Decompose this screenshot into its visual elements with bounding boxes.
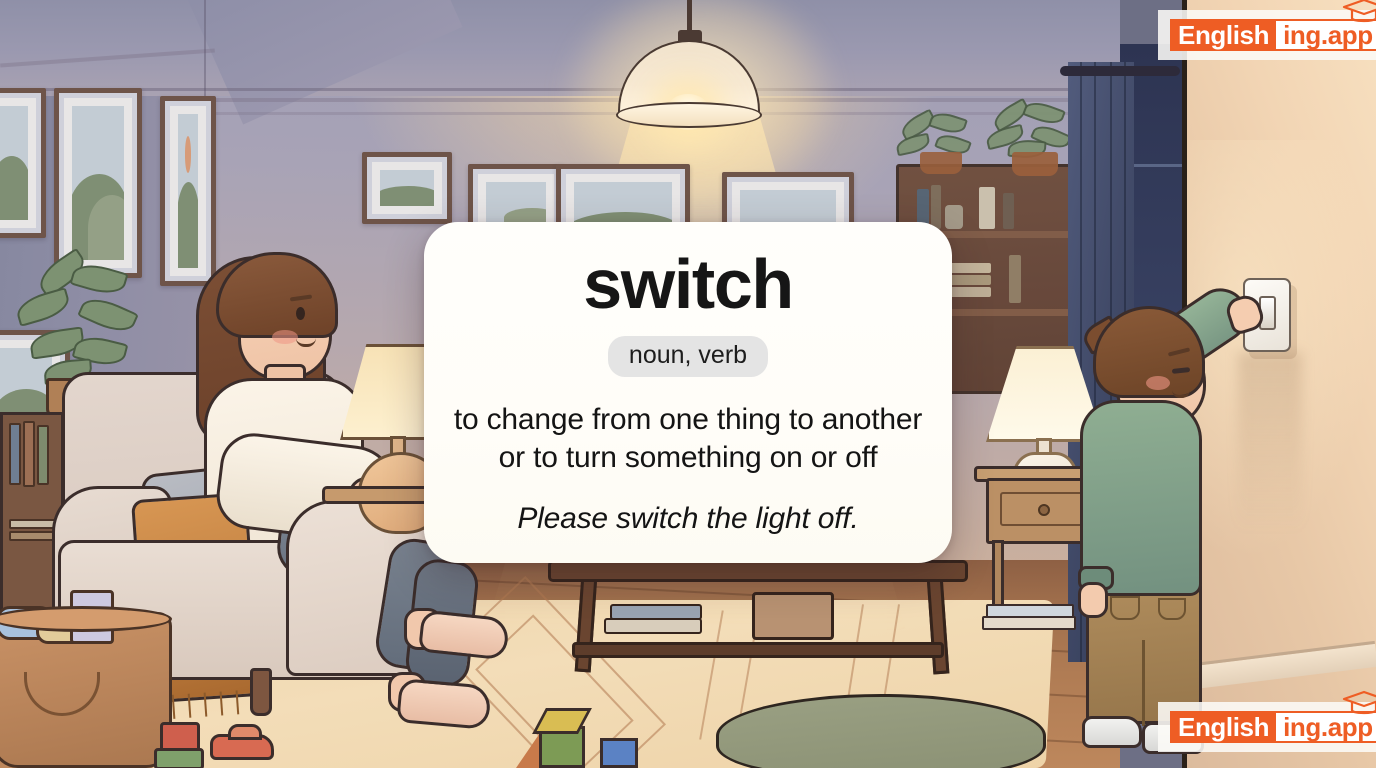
basket-rim (0, 606, 172, 632)
vocabulary-card: switch noun, verb to change from one thi… (424, 222, 952, 563)
logo-text-english: English (1170, 19, 1276, 51)
coffee-table-top (548, 560, 968, 582)
curtain-rod (1060, 66, 1180, 76)
coffee-table-book-second (604, 618, 702, 634)
toy-green-block (154, 748, 204, 768)
floor-cushion (716, 694, 1046, 768)
word-definition: to change from one thing to another or t… (454, 401, 922, 478)
graduation-cap-icon (1342, 690, 1376, 718)
toy-car-cabin (228, 724, 262, 740)
woman-blush (272, 330, 298, 344)
graduation-cap-icon (1342, 0, 1376, 26)
brand-logo-bottom[interactable]: English ing.app (1158, 702, 1376, 752)
definition-line-1: to change from one thing to another (454, 403, 922, 436)
coffee-table-shelf (572, 642, 944, 658)
stacked-book-second (982, 616, 1076, 630)
word-headword: switch (583, 248, 792, 322)
toy-blue-cube (600, 738, 638, 768)
boy-blush (1146, 376, 1170, 390)
logo-lockup: English ing.app (1170, 19, 1376, 51)
woman-slipper-second (396, 678, 491, 730)
boy-pocket (1110, 596, 1140, 620)
part-of-speech-badge: noun, verb (608, 336, 768, 378)
light-switch-shadow (1238, 352, 1302, 532)
boy-pocket-second (1158, 598, 1186, 620)
pendant-lamp-rim (616, 102, 762, 128)
screenshot-root: switch noun, verb to change from one thi… (0, 0, 1376, 768)
definition-line-2: or to turn something on or off (499, 441, 878, 474)
logo-text-english: English (1170, 711, 1276, 743)
boy-trouser-seam (1142, 640, 1145, 726)
framed-picture (0, 88, 46, 238)
logo-lockup: English ing.app (1170, 711, 1376, 743)
boy-shoe-left (1082, 716, 1142, 748)
framed-picture (362, 152, 452, 224)
pendant-lamp-cord (687, 0, 692, 34)
potted-plant-shelf-left (896, 114, 986, 174)
drawer-knob[interactable] (1038, 504, 1050, 516)
woman-eye (296, 307, 305, 320)
boy-lowered-hand (1078, 582, 1108, 618)
brand-logo-top[interactable]: English ing.app (1158, 10, 1376, 60)
word-example-sentence: Please switch the light off. (517, 502, 858, 536)
storage-box (752, 592, 834, 640)
framed-picture (160, 96, 216, 286)
armchair-leg-right (250, 668, 272, 716)
